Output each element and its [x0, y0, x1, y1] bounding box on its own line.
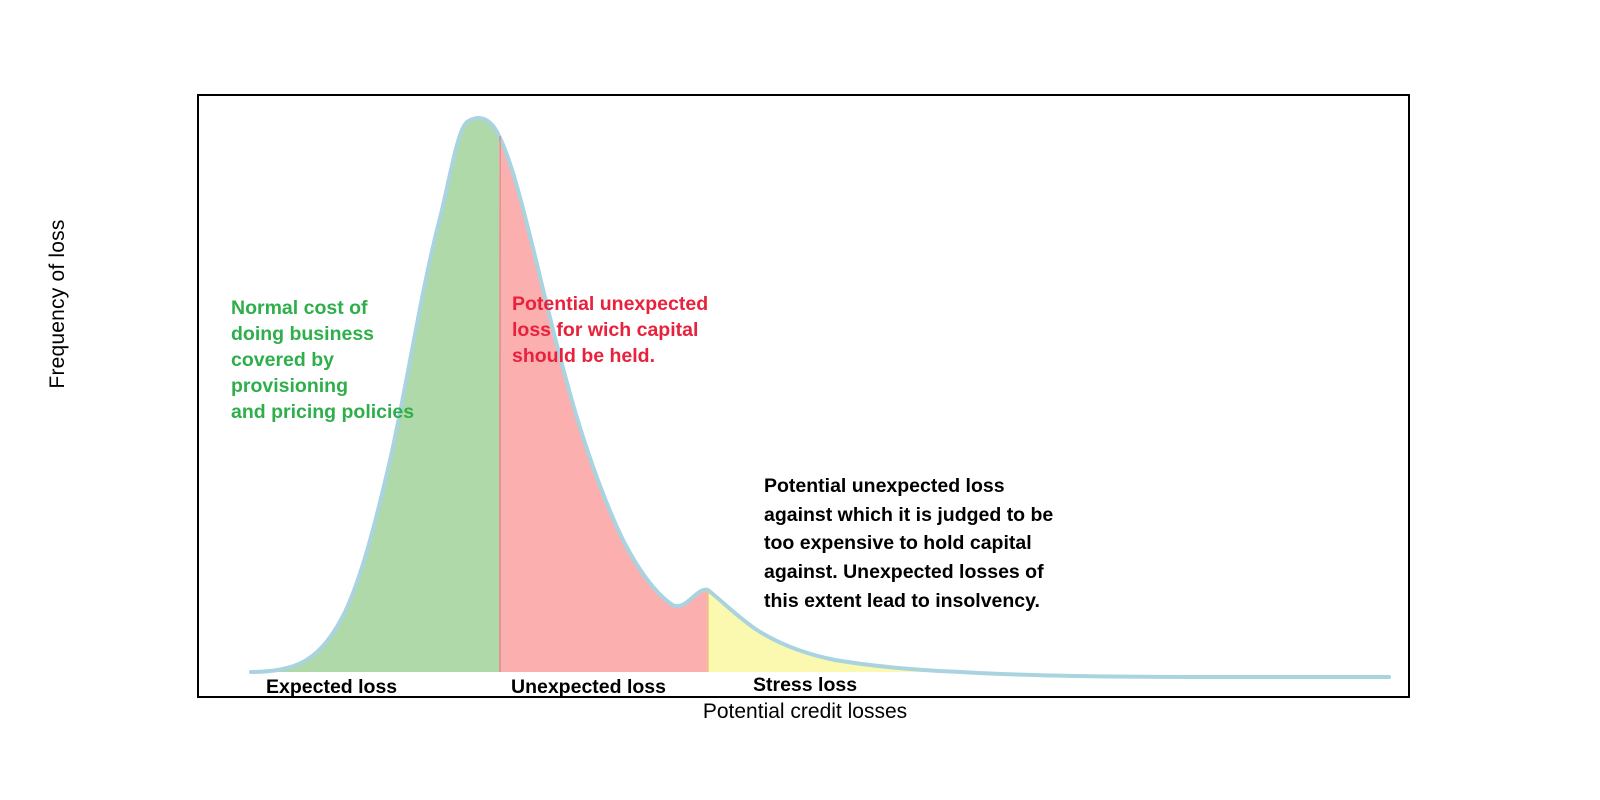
- x-axis-title: Potential credit losses: [560, 700, 1050, 724]
- annotation-unexpected-loss: Potential unexpected loss for wich capit…: [512, 292, 762, 370]
- y-axis-title: Frequency of loss: [46, 194, 70, 414]
- annotation-expected-loss: Normal cost of doing business covered by…: [231, 296, 471, 426]
- category-label-expected-loss: Expected loss: [266, 676, 397, 699]
- category-label-stress-loss: Stress loss: [753, 674, 857, 697]
- annotation-stress-loss: Potential unexpected loss against which …: [764, 472, 1094, 615]
- category-label-unexpected-loss: Unexpected loss: [511, 676, 666, 699]
- region-unexpected-loss: [500, 136, 708, 672]
- category-label-rule: [199, 697, 1408, 698]
- credit-loss-distribution-figure: Normal cost of doing business covered by…: [0, 0, 1600, 800]
